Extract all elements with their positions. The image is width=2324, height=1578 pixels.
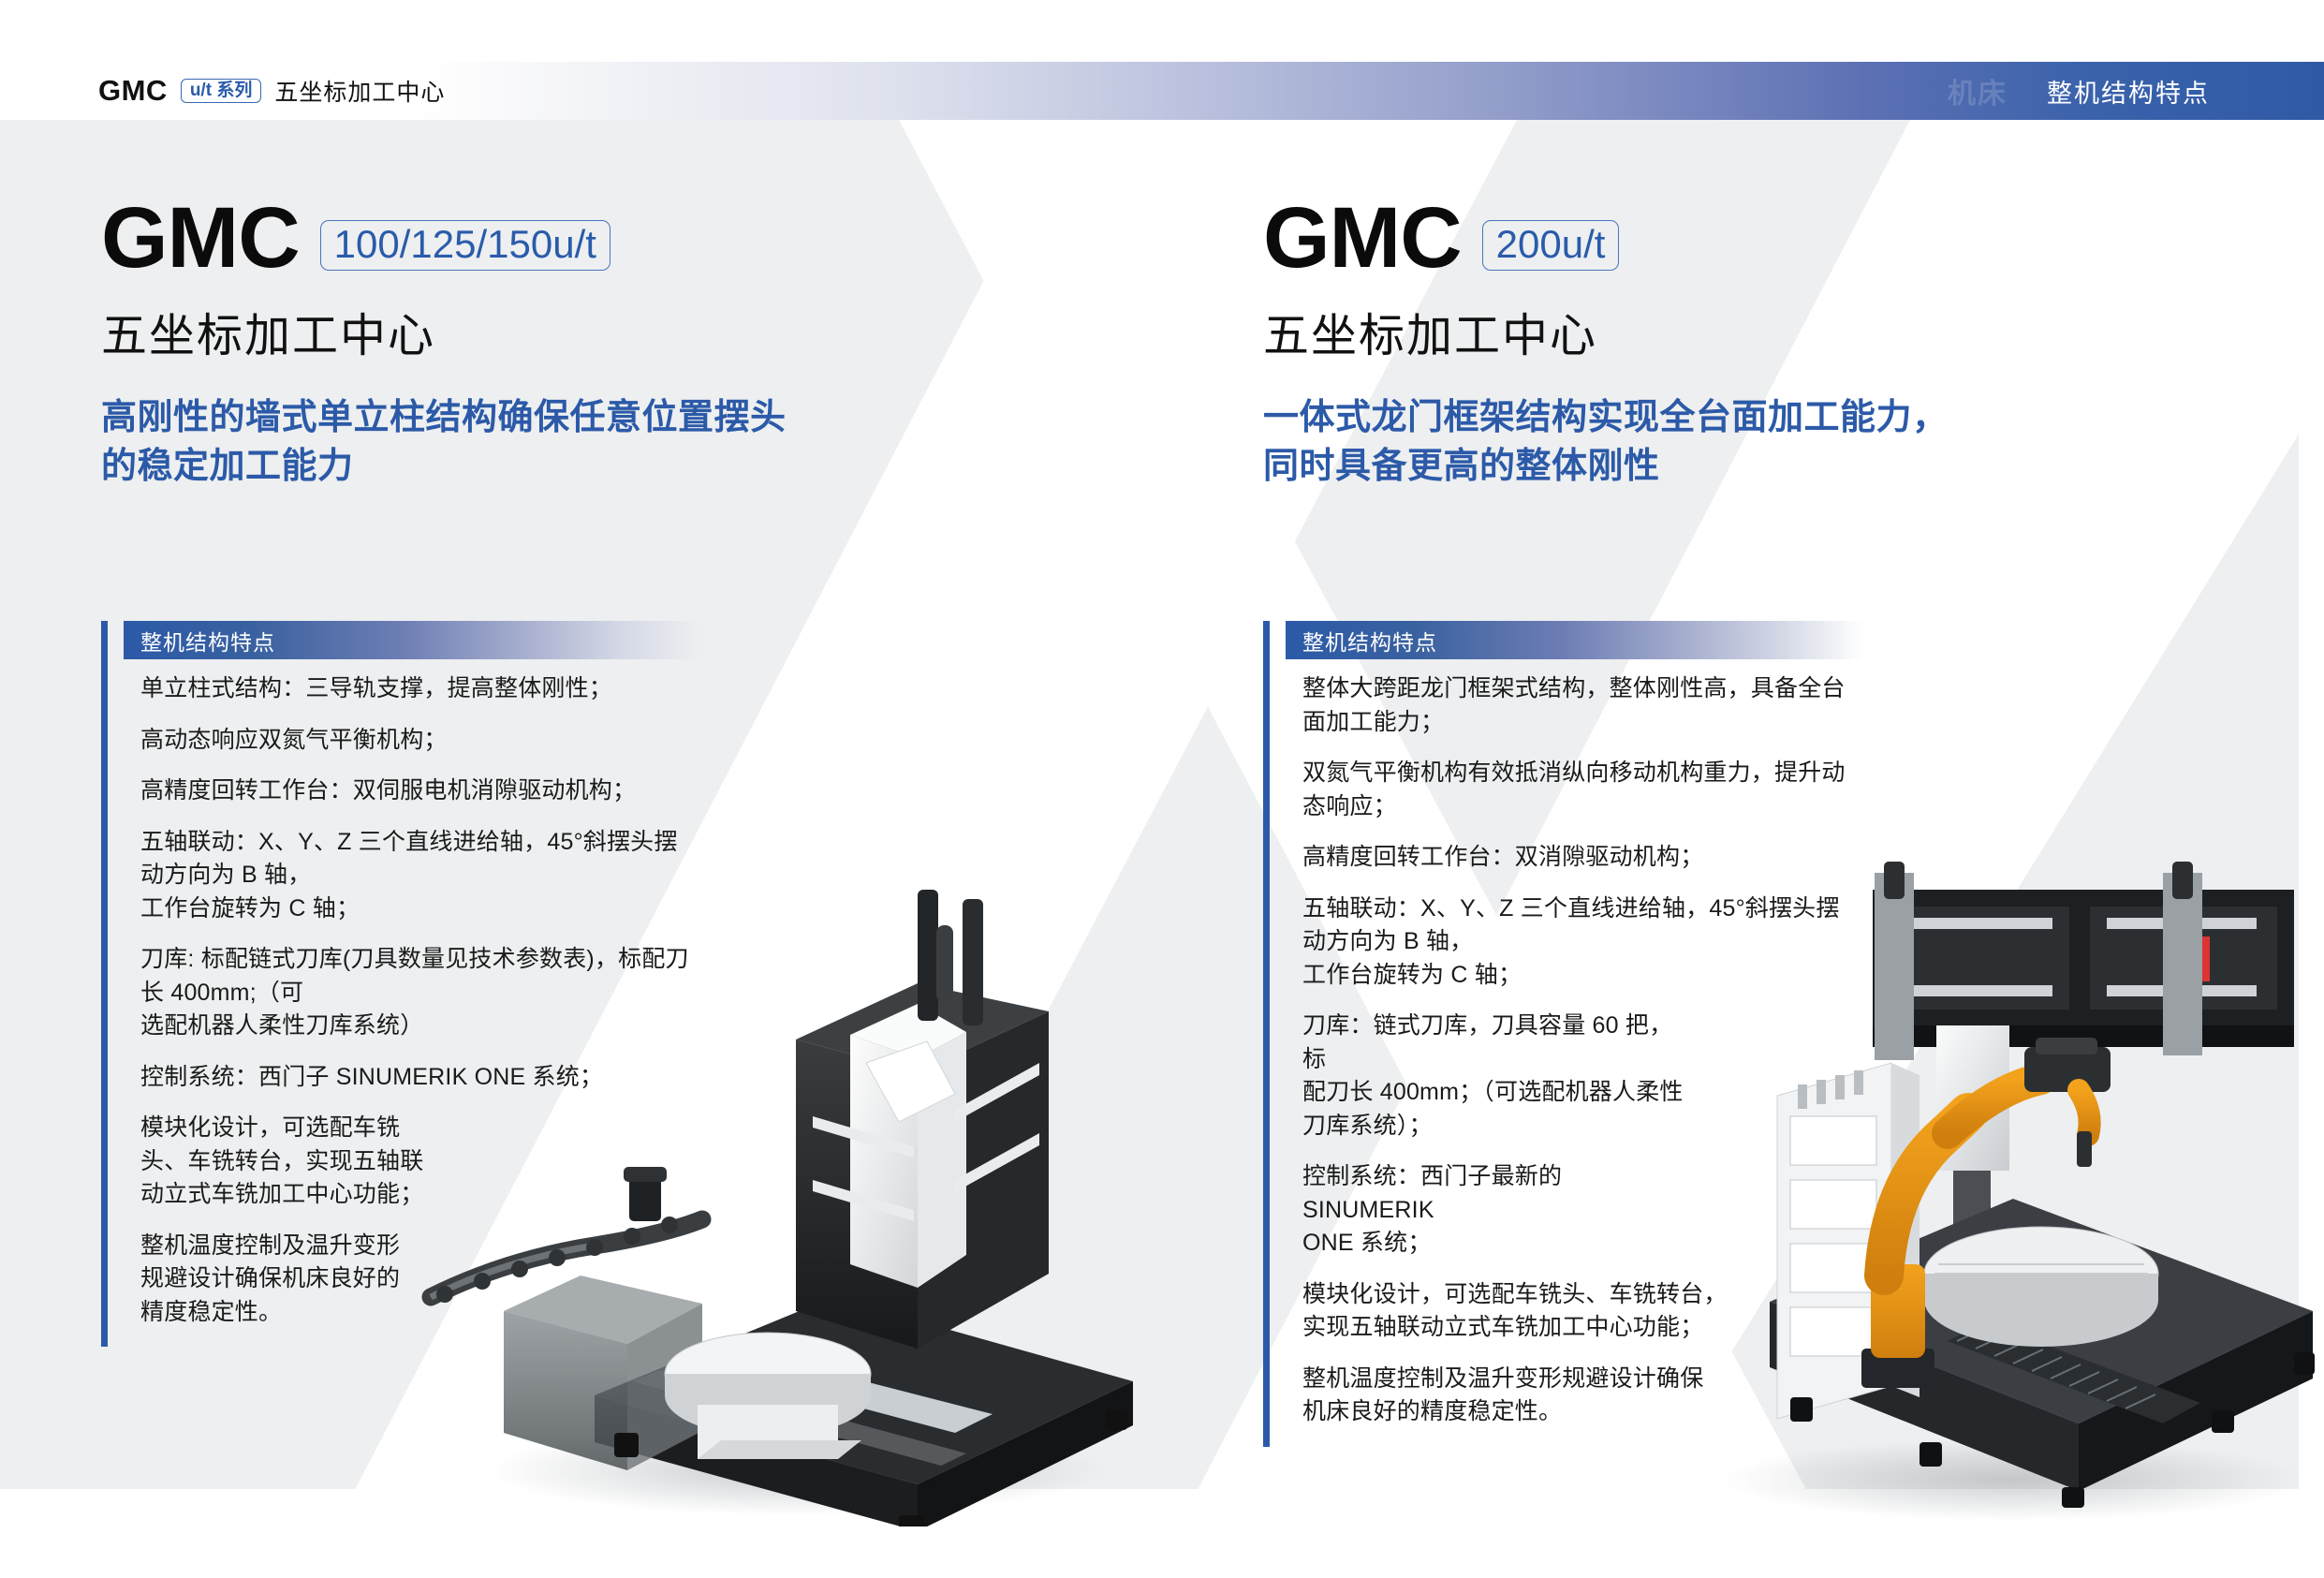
feature-box-body: 整体大跨距龙门框架式结构，整体刚性高，具备全台面加工能力； 双氮气平衡机构有效抵… <box>1286 659 1862 1429</box>
feature-box-header: 整机结构特点 <box>1286 621 1862 659</box>
product-description: 一体式龙门框架结构实现全台面加工能力， 同时具备更高的整体刚性 <box>1263 393 1949 492</box>
product-model: GMC <box>101 199 300 278</box>
product-variant-badge: 200u/t <box>1482 220 1620 271</box>
feature-box: 整机结构特点 单立柱式结构：三导轨支撑，提高整体刚性； 高动态响应双氮气平衡机构… <box>101 621 700 1347</box>
product-title-block: GMC 200u/t 五坐标加工中心 一体式龙门框架结构实现全台面加工能力， 同… <box>1263 199 1949 492</box>
feature-item: 整机温度控制及温升变形规避设计确保 机床良好的精度稳定性。 <box>1302 1363 1743 1429</box>
product-column-right: GMC 200u/t 五坐标加工中心 一体式龙门框架结构实现全台面加工能力， 同… <box>1162 0 2324 1578</box>
feature-item: 单立柱式结构：三导轨支撑，提高整体刚性； <box>140 672 700 706</box>
product-title-block: GMC 100/125/150u/t 五坐标加工中心 高刚性的墙式单立柱结构确保… <box>101 199 787 492</box>
feature-box-title: 整机结构特点 <box>124 625 275 656</box>
product-model: GMC <box>1263 199 1462 278</box>
feature-item: 五轴联动：X、Y、Z 三个直线进给轴，45°斜摆头摆动方向为 B 轴， 工作台旋… <box>1302 892 1862 993</box>
feature-item: 双氮气平衡机构有效抵消纵向移动机构重力，提升动态响应； <box>1302 757 1862 823</box>
feature-item: 模块化设计，可选配车铣头、车铣转台， 实现五轴联动立式车铣加工中心功能； <box>1302 1278 1743 1345</box>
feature-item: 模块化设计，可选配车铣 头、车铣转台，实现五轴联 动立式车铣加工中心功能； <box>140 1112 449 1212</box>
feature-box-title: 整机结构特点 <box>1286 625 1437 656</box>
feature-item: 高精度回转工作台：双伺服电机消隙驱动机构； <box>140 774 700 808</box>
product-title-row: GMC 200u/t <box>1263 199 1949 278</box>
feature-box-header: 整机结构特点 <box>124 621 700 659</box>
feature-item: 整体大跨距龙门框架式结构，整体刚性高，具备全台面加工能力； <box>1302 672 1862 739</box>
feature-item: 高动态响应双氮气平衡机构； <box>140 724 700 758</box>
feature-box-accent-rail <box>101 621 108 1347</box>
product-type-label: 五坐标加工中心 <box>101 299 787 365</box>
product-type-label: 五坐标加工中心 <box>1263 299 1949 365</box>
feature-box-accent-rail <box>1263 621 1270 1447</box>
feature-box: 整机结构特点 整体大跨距龙门框架式结构，整体刚性高，具备全台面加工能力； 双氮气… <box>1263 621 1862 1447</box>
feature-item: 刀库：链式刀库，刀具容量 60 把，标 配刀长 400mm；（可选配机器人柔性 … <box>1302 1010 1696 1143</box>
feature-item: 高精度回转工作台：双消隙驱动机构； <box>1302 841 1862 875</box>
feature-item: 整机温度控制及温升变形 规避设计确保机床良好的 精度稳定性。 <box>140 1230 449 1330</box>
product-description: 高刚性的墙式单立柱结构确保任意位置摆头 的稳定加工能力 <box>101 393 787 492</box>
feature-item: 刀库: 标配链式刀库(刀具数量见技术参数表)，标配刀长 400mm;（可 选配机… <box>140 943 700 1043</box>
feature-item: 控制系统：西门子最新的 SINUMERIK ONE 系统； <box>1302 1160 1696 1261</box>
product-title-row: GMC 100/125/150u/t <box>101 199 787 278</box>
feature-item: 五轴联动：X、Y、Z 三个直线进给轴，45°斜摆头摆动方向为 B 轴， 工作台旋… <box>140 826 700 926</box>
product-column-left: GMC 100/125/150u/t 五坐标加工中心 高刚性的墙式单立柱结构确保… <box>0 0 1162 1578</box>
product-variant-badge: 100/125/150u/t <box>320 220 610 271</box>
feature-item: 控制系统：西门子 SINUMERIK ONE 系统； <box>140 1061 700 1095</box>
feature-box-body: 单立柱式结构：三导轨支撑，提高整体刚性； 高动态响应双氮气平衡机构； 高精度回转… <box>124 659 700 1329</box>
